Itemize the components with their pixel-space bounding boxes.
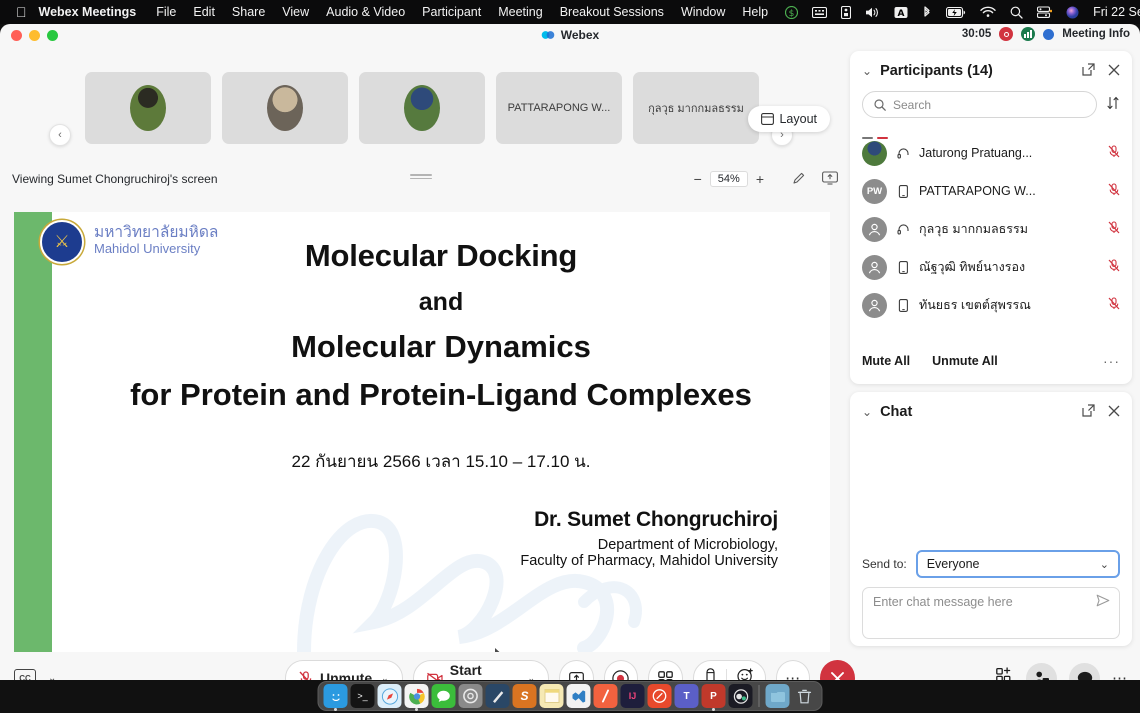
participant-name: ณัฐวุฒิ ทิพย์นางรอง [919,257,1099,277]
unmute-label: Unmute [320,670,372,680]
zoom-controls: − 54% + [694,171,838,188]
chevron-down-icon[interactable]: ⌄ [527,673,535,681]
send-to-value: Everyone [927,557,980,571]
search-icon[interactable] [1010,6,1023,19]
toolbar-center-group: Unmute ⌄ Start video ⌄ [285,660,855,680]
unmute-button[interactable]: Unmute ⌄ [285,660,403,680]
chevron-down-icon[interactable]: ⌄ [48,673,56,681]
dock-item-powerpoint[interactable]: P [702,684,726,708]
slide-date: 22 กันยายน 2566 เวลา 15.10 – 17.10 น. [52,448,830,475]
search-placeholder: Search [893,98,931,112]
participant-row[interactable]: ณัฐวุฒิ ทิพย์นางรอง [850,248,1132,286]
dock-divider [759,685,760,707]
minimize-window-button[interactable] [29,30,40,41]
meeting-timer: 30:05 [962,28,991,40]
start-video-label: Start video [450,662,519,680]
window-title: Webex [561,28,599,42]
layout-grid-icon [761,113,774,125]
keyboard-icon[interactable] [812,7,827,18]
window-title-group: Webex [541,28,599,42]
start-video-button[interactable]: Start video ⌄ [413,660,549,680]
close-window-button[interactable] [11,30,22,41]
muted-mic-icon[interactable] [1108,221,1120,237]
presenter-faculty: Faculty of Pharmacy, Mahidol University [520,553,778,569]
sharing-status-text: Viewing Sumet Chongruchiroj's screen [12,172,218,186]
muted-mic-icon[interactable] [1108,183,1120,199]
avatar [267,85,303,131]
slide-title-and: and [52,288,830,317]
chat-button[interactable] [1069,663,1100,681]
macos-menu-bar:  Webex Meetings File Edit Share View Au… [0,0,1140,24]
participants-panel: ⌄ Participants (14) Search [850,51,1132,384]
participant-name: Jaturong Pratuang... [919,146,1099,160]
macos-dock: >_ S IJ T P [318,681,823,711]
menu-item-webex-meetings[interactable]: Webex Meetings [39,5,137,19]
chat-panel-header: ⌄ Chat [850,392,1132,432]
menu-item-file[interactable]: File [156,5,176,19]
participant-filmstrip: PATTARAPONG W... กุลวุธ มากกมลธรรม [0,72,850,144]
svg-text:$: $ [789,9,795,19]
dock-item-line[interactable] [432,684,456,708]
video-off-icon [427,672,443,681]
apple-icon[interactable]:  [16,5,27,19]
layout-label: Layout [779,112,817,126]
slide-title-group: Molecular Docking and Molecular Dynamics… [52,238,830,413]
participant-name: กุลวุธ มากกมลธรรม [919,219,1099,239]
dock-item-trash[interactable] [793,684,817,708]
close-icon[interactable] [1108,64,1120,79]
participant-name: PATTARAPONG W... [919,184,1099,198]
zoom-level-value[interactable]: 54% [710,171,748,187]
search-icon [874,99,886,111]
avatar [862,141,887,166]
participants-list[interactable]: Jaturong Pratuang... PW PATTARAPONG W... [850,126,1132,341]
popout-icon[interactable] [1082,404,1095,420]
slide-title-line1: Molecular Docking [52,238,830,274]
dock-item-downloads-folder[interactable] [766,684,790,708]
participants-actions-bar: Mute All Unmute All ··· [850,341,1132,381]
annotate-reactions-group [693,660,766,680]
mobile-icon [896,299,910,312]
wifi-icon[interactable] [980,6,996,18]
mobile-icon [896,261,910,274]
webex-logo-icon [541,28,555,42]
dock-item-terminal[interactable]: >_ [351,684,375,708]
window-traffic-lights [11,30,58,41]
menu-item-audio-video[interactable]: Audio & Video [326,5,405,19]
participants-title: Participants (14) [880,63,993,79]
control-center-icon[interactable] [1037,6,1052,19]
apps-button[interactable] [648,660,683,680]
participants-scroll-peek [850,126,1132,134]
menu-item-window[interactable]: Window [681,5,725,19]
info-shield-icon[interactable] [1043,29,1054,40]
slide-green-sidebar: Faculty of Pharmacy, Mahidol University [14,212,52,670]
battery-charging-icon[interactable] [946,7,966,18]
zoom-out-button[interactable]: − [694,171,702,187]
closed-caption-icon[interactable]: CC [14,669,36,680]
chat-messages-area[interactable] [850,432,1132,550]
send-icon[interactable] [1096,594,1110,610]
toolbar-right-group: ⋯ [996,660,1128,680]
close-icon[interactable] [1108,405,1120,420]
avatar [404,85,440,131]
chevron-down-icon[interactable]: ⌄ [862,405,872,419]
smiley-plus-icon[interactable] [737,668,754,681]
maximize-window-button[interactable] [47,30,58,41]
headset-icon [896,147,910,160]
menu-item-meeting[interactable]: Meeting [498,5,542,19]
send-to-select[interactable]: Everyone ⌄ [916,550,1120,578]
avatar [130,85,166,131]
chat-send-to-row: Send to: Everyone ⌄ [850,550,1132,578]
avatar-initials: PW [862,179,887,204]
menu-item-edit[interactable]: Edit [193,5,215,19]
zoom-in-button[interactable]: + [756,171,764,187]
slide-title-line3: for Protein and Protein-Ligand Complexes [52,377,830,413]
shared-slide[interactable]: Faculty of Pharmacy, Mahidol University … [14,212,830,670]
sharing-status-bar: Viewing Sumet Chongruchiroj's screen − 5… [0,164,850,194]
leave-meeting-button[interactable] [820,660,855,680]
headset-icon [896,223,910,236]
menu-item-participant[interactable]: Participant [422,5,481,19]
participant-row[interactable]: กุลวุธ มากกมลธรรม [850,210,1132,248]
participants-button[interactable] [1026,663,1057,681]
dock-item-finder[interactable] [324,684,348,708]
dock-item-zeplin[interactable] [594,684,618,708]
mobile-icon [896,185,910,198]
video-tile[interactable] [222,72,348,144]
presenter-name: Dr. Sumet Chongruchiroj [520,508,778,532]
chat-title: Chat [880,404,912,420]
grid-apps-icon [658,671,673,681]
video-tile[interactable] [85,72,211,144]
volume-icon[interactable] [865,6,880,19]
money-icon[interactable]: $ [785,6,798,19]
chat-bubble-icon [1077,671,1093,681]
share-content-button[interactable] [559,660,594,680]
chevron-left-icon[interactable]: ‹ [49,124,71,146]
tile-name: กุลวุธ มากกมลธรรม [642,99,750,117]
dock-item-safari[interactable] [378,684,402,708]
dock-item-sublime-text[interactable]: S [513,684,537,708]
bluetooth-icon[interactable] [922,5,932,19]
recording-icon[interactable] [999,27,1013,41]
participant-name: ทันยธร เขตต์สุพรรณ [919,295,1099,315]
avatar [862,217,887,242]
chevron-down-icon: ⌄ [1100,558,1109,571]
close-icon [830,671,845,681]
meeting-info-label[interactable]: Meeting Info [1062,28,1130,40]
muted-mic-icon[interactable] [1108,297,1120,313]
sort-icon[interactable] [1106,96,1120,113]
window-titlebar: Webex 30:05 Meeting Info [0,24,1140,46]
dock-item-xcode[interactable] [486,684,510,708]
video-tile[interactable]: กุลวุธ มากกมลธรรม [633,72,759,144]
dock-item-chrome[interactable] [405,684,429,708]
menu-item-breakout-sessions[interactable]: Breakout Sessions [560,5,664,19]
participant-row[interactable]: Jaturong Pratuang... [850,134,1132,172]
participants-icon [1033,670,1050,680]
layout-button[interactable]: Layout [748,106,830,132]
chat-message-input[interactable]: Enter chat message here [862,587,1120,639]
dock-item-microsoft-teams[interactable]: T [675,684,699,708]
chevron-down-icon[interactable]: ⌄ [862,64,872,78]
toolbar-left-group: CC ⌄ [14,669,56,680]
menu-item-view[interactable]: View [282,5,309,19]
participant-row[interactable]: PW PATTARAPONG W... [850,172,1132,210]
participants-search-row: Search [850,91,1132,126]
send-to-label: Send to: [862,557,907,571]
dock-item-vscode[interactable] [567,684,591,708]
breakout-sessions-icon[interactable] [996,667,1014,680]
dock-item-obs-studio[interactable] [729,684,753,708]
video-tile[interactable]: PATTARAPONG W... [496,72,622,144]
chat-input-placeholder: Enter chat message here [873,595,1013,609]
share-screen-icon[interactable] [822,171,838,188]
annotate-icon[interactable] [792,171,806,188]
svg-text:A: A [898,9,905,19]
slide-title-line2: Molecular Dynamics [52,329,830,365]
record-button[interactable] [604,660,639,680]
search-input[interactable]: Search [862,91,1097,118]
avatar [862,293,887,318]
meeting-status-group: 30:05 Meeting Info [962,27,1130,41]
muted-mic-icon[interactable] [1108,259,1120,275]
dock-item-system-settings[interactable] [459,684,483,708]
mute-all-button[interactable]: Mute All [862,354,910,368]
meeting-toolbar: CC ⌄ Unmute ⌄ Start video ⌄ [0,652,1140,680]
pen-icon[interactable] [705,668,716,681]
participant-row[interactable]: ทันยธร เขตต์สุพรรณ [850,286,1132,324]
webex-window: Webex 30:05 Meeting Info PATTARAPONG W..… [0,24,1140,680]
input-source-A-icon[interactable]: A [894,6,908,19]
network-quality-icon[interactable] [1021,27,1035,41]
record-icon [612,670,629,681]
muted-mic-icon[interactable] [1108,145,1120,161]
menu-item-share[interactable]: Share [232,5,265,19]
participants-panel-header: ⌄ Participants (14) [850,51,1132,91]
unmute-all-button[interactable]: Unmute All [932,354,998,368]
share-content-icon [569,671,584,680]
siri-icon[interactable] [1066,6,1079,19]
dock-item-notes[interactable] [540,684,564,708]
slide-presenter-block: Dr. Sumet Chongruchiroj Department of Mi… [520,508,778,569]
menubar-date[interactable]: Fri 22 Sep [1093,5,1140,19]
presenter-department: Department of Microbiology, [520,537,778,553]
menu-item-help[interactable]: Help [742,5,768,19]
toolbar-divider [726,669,727,680]
more-options-button[interactable]: ⋯ [776,660,811,680]
dock-item-intellij-idea[interactable]: IJ [621,684,645,708]
avatar [862,255,887,280]
video-tile[interactable] [359,72,485,144]
tile-name: PATTARAPONG W... [502,102,617,114]
chevron-down-icon[interactable]: ⌄ [381,673,389,681]
screen:  Webex Meetings File Edit Share View Au… [0,0,1140,713]
participants-more-icon[interactable]: ··· [1103,353,1120,369]
popout-icon[interactable] [1082,63,1095,79]
stage-area: PATTARAPONG W... กุลวุธ มากกมลธรรม ‹ › L… [0,46,850,652]
muted-mic-icon [299,671,313,681]
dock-item-postman[interactable] [648,684,672,708]
battery-widget-icon[interactable] [841,6,851,19]
chat-panel: ⌄ Chat Send to: Everyone ⌄ [850,392,1132,646]
more-ellipsis-icon[interactable]: ⋯ [1112,660,1128,680]
